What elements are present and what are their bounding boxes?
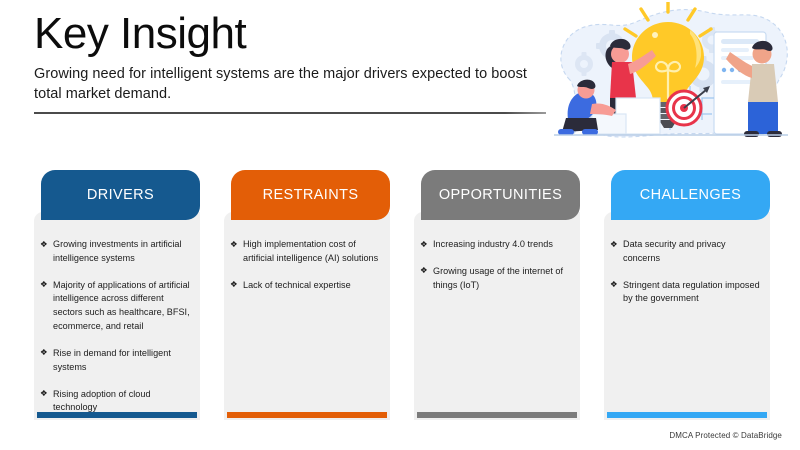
bullet-marker-icon: ❖: [610, 238, 618, 251]
list-item-text: Growing investments in artificial intell…: [53, 239, 182, 263]
list-item: ❖ Stringent data regulation imposed by t…: [610, 279, 762, 307]
bullet-list-drivers: ❖ Growing investments in artificial inte…: [34, 212, 200, 415]
list-item: ❖ Rising adoption of cloud technology: [40, 388, 192, 416]
bullet-marker-icon: ❖: [40, 238, 48, 251]
card-body-challenges: ❖ Data security and privacy concerns ❖ S…: [604, 212, 770, 420]
card-drivers: DRIVERS ❖ Growing investments in artific…: [34, 170, 200, 420]
list-item: ❖ Data security and privacy concerns: [610, 238, 762, 266]
bullet-marker-icon: ❖: [420, 264, 428, 277]
list-item: ❖ High implementation cost of artificial…: [230, 238, 382, 266]
card-restraints: RESTRAINTS ❖ High implementation cost of…: [224, 170, 390, 420]
page-title: Key Insight: [34, 10, 546, 58]
footer-copyright: DMCA Protected © DataBridge: [669, 431, 782, 440]
header-divider: [34, 112, 546, 114]
list-item-text: Growing usage of the internet of things …: [433, 266, 563, 290]
card-body-opportunities: ❖ Increasing industry 4.0 trends ❖ Growi…: [414, 212, 580, 420]
list-item: ❖ Rise in demand for intelligent systems: [40, 347, 192, 375]
list-item-text: Lack of technical expertise: [243, 280, 351, 290]
card-accent-bar-opportunities: [417, 412, 577, 418]
list-item: ❖ Lack of technical expertise: [230, 279, 382, 293]
list-item-text: Rising adoption of cloud technology: [53, 389, 151, 413]
card-header-challenges[interactable]: CHALLENGES: [611, 170, 770, 220]
card-header-drivers[interactable]: DRIVERS: [41, 170, 200, 220]
bullet-marker-icon: ❖: [40, 346, 48, 359]
list-item: ❖ Increasing industry 4.0 trends: [420, 238, 572, 252]
bullet-marker-icon: ❖: [40, 387, 48, 400]
page-subtitle: Growing need for intelligent systems are…: [34, 64, 546, 105]
card-accent-bar-restraints: [227, 412, 387, 418]
card-opportunities: OPPORTUNITIES ❖ Increasing industry 4.0 …: [414, 170, 580, 420]
list-item-text: Increasing industry 4.0 trends: [433, 239, 553, 249]
card-title-drivers: DRIVERS: [83, 188, 158, 203]
bullet-marker-icon: ❖: [420, 238, 428, 251]
list-item-text: Data security and privacy concerns: [623, 239, 726, 263]
list-item-text: Rise in demand for intelligent systems: [53, 348, 171, 372]
list-item: ❖ Growing investments in artificial inte…: [40, 238, 192, 266]
bullet-marker-icon: ❖: [610, 278, 618, 291]
bullet-list-challenges: ❖ Data security and privacy concerns ❖ S…: [604, 212, 770, 306]
card-title-challenges: CHALLENGES: [636, 188, 746, 203]
list-item-text: Stringent data regulation imposed by the…: [623, 280, 760, 304]
card-body-drivers: ❖ Growing investments in artificial inte…: [34, 212, 200, 420]
card-accent-bar-drivers: [37, 412, 197, 418]
cards-row: DRIVERS ❖ Growing investments in artific…: [34, 170, 774, 420]
card-accent-bar-challenges: [607, 412, 767, 418]
slide-canvas: Key Insight Growing need for intelligent…: [0, 0, 800, 450]
list-item-text: Majority of applications of artificial i…: [53, 280, 190, 331]
header-block: Key Insight Growing need for intelligent…: [34, 10, 546, 105]
card-body-restraints: ❖ High implementation cost of artificial…: [224, 212, 390, 420]
card-header-opportunities[interactable]: OPPORTUNITIES: [421, 170, 580, 220]
bullet-list-opportunities: ❖ Increasing industry 4.0 trends ❖ Growi…: [414, 212, 580, 292]
list-item: ❖ Majority of applications of artificial…: [40, 279, 192, 334]
bullet-marker-icon: ❖: [230, 238, 238, 251]
card-title-opportunities: OPPORTUNITIES: [435, 188, 566, 203]
list-item: ❖ Growing usage of the internet of thing…: [420, 265, 572, 293]
bullet-list-restraints: ❖ High implementation cost of artificial…: [224, 212, 390, 292]
card-challenges: CHALLENGES ❖ Data security and privacy c…: [604, 170, 770, 420]
card-title-restraints: RESTRAINTS: [259, 188, 363, 203]
bullet-marker-icon: ❖: [40, 278, 48, 291]
list-item-text: High implementation cost of artificial i…: [243, 239, 378, 263]
idea-lightbulb-teamwork-illustration: [540, 2, 800, 152]
card-header-restraints[interactable]: RESTRAINTS: [231, 170, 390, 220]
bullet-marker-icon: ❖: [230, 278, 238, 291]
